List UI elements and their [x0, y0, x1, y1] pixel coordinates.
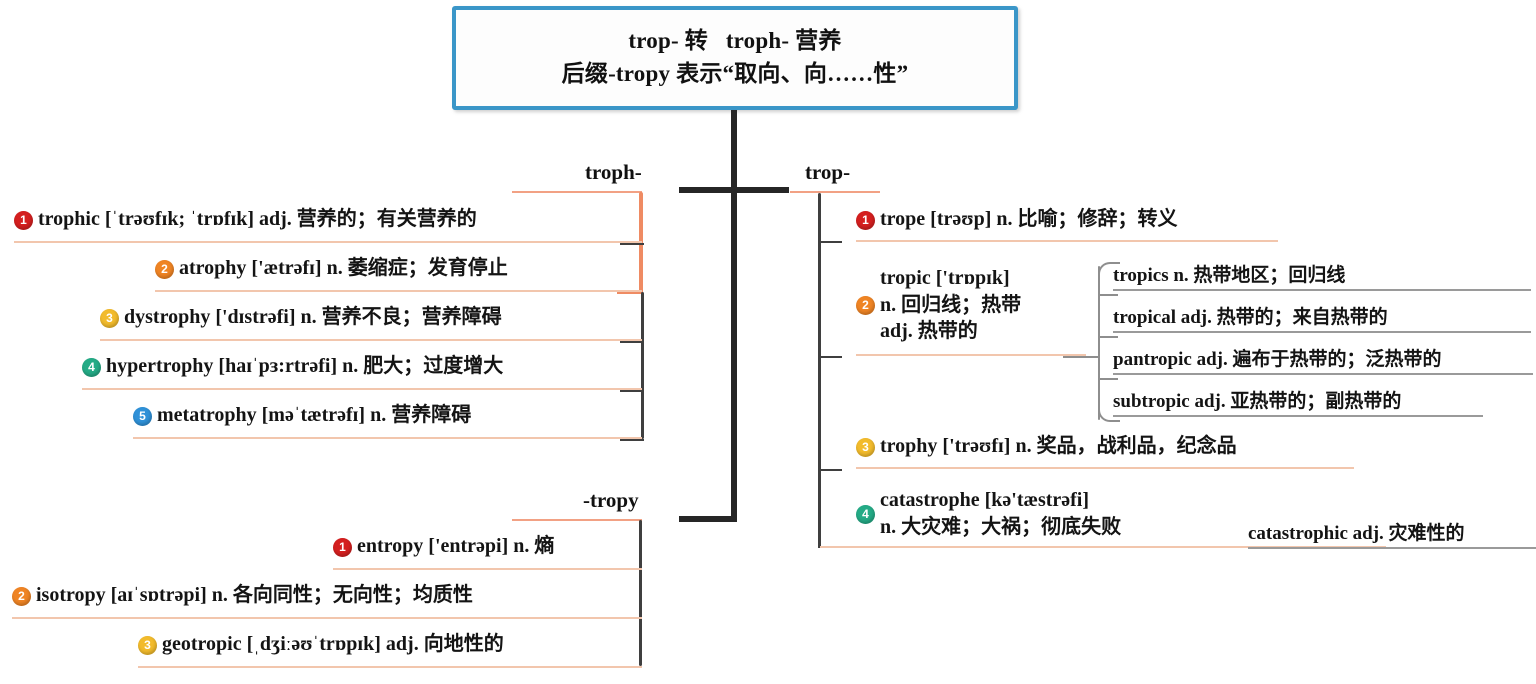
entry-trop-1[interactable]: 1 trope [trəʊp] n. 比喻；修辞；转义: [856, 206, 1278, 242]
subbracket-tropic-stem: [1063, 356, 1099, 358]
entry-text: metatrophy [məˈtætrəfɪ] n. 营养障碍: [157, 402, 471, 429]
entry-text: trophic [ˈtrəʊfɪk; ˈtrɒfɪk] adj. 营养的；有关营…: [38, 206, 477, 233]
mindmap-canvas: trop- 转 troph- 营养 后缀-tropy 表示“取向、向……性” t…: [0, 0, 1536, 684]
bullet-number: 4: [82, 358, 101, 377]
bracket-trop-tick-3: [818, 469, 842, 471]
bracket-trop-tick-2: [818, 356, 842, 358]
entry-trop-2[interactable]: 2 tropic ['trɒpɪk] n. 回归线；热带 adj. 热带的: [856, 256, 1086, 356]
subitem-tropical[interactable]: tropical adj. 热带的；来自热带的: [1113, 302, 1531, 333]
entry-text: trope [trəʊp] n. 比喻；修辞；转义: [880, 206, 1178, 233]
bullet-number: 2: [856, 296, 875, 315]
entry-troph-4[interactable]: 4 hypertrophy [haɪˈpɜ:rtrəfi] n. 肥大；过度增大: [82, 353, 642, 390]
bullet-number: 2: [155, 260, 174, 279]
subitem-catastrophic[interactable]: catastrophic adj. 灾难性的: [1248, 518, 1536, 549]
bullet-number: 1: [14, 211, 33, 230]
bracket-troph-tick-5: [620, 439, 644, 441]
entry-text-line-1: tropic ['trɒpɪk]: [880, 265, 1021, 292]
bullet-number: 3: [138, 636, 157, 655]
subbracket-tropic-tick-2: [1098, 294, 1118, 296]
bullet-number: 4: [856, 505, 875, 524]
branch-label-troph[interactable]: troph-: [585, 160, 642, 185]
bullet-number: 1: [856, 211, 875, 230]
bullet-number: 2: [12, 587, 31, 606]
branch-rule-trop: [790, 191, 880, 193]
bullet-number: 3: [856, 438, 875, 457]
entry-troph-2[interactable]: 2 atrophy ['ætrəfɪ] n. 萎缩症；发育停止: [155, 255, 642, 292]
subbracket-tropic-line: [1098, 266, 1100, 420]
bracket-troph-tick-1: [620, 243, 644, 245]
branch-rule-troph: [512, 191, 642, 193]
trunk-horizontal-tropy: [679, 516, 737, 522]
entry-tropy-2[interactable]: 2 isotropy [aɪˈsɒtrəpi] n. 各向同性；无向性；均质性: [12, 582, 642, 619]
entry-troph-5[interactable]: 5 metatrophy [məˈtætrəfɪ] n. 营养障碍: [133, 402, 642, 439]
subbracket-tropic-tick-4: [1098, 378, 1118, 380]
entry-text: atrophy ['ætrəfɪ] n. 萎缩症；发育停止: [179, 255, 508, 282]
bullet-number: 1: [333, 538, 352, 557]
entry-text-line-2: n. 大灾难；大祸；彻底失败: [880, 514, 1121, 541]
entry-text-line-1: catastrophe [kə'tæstrəfi]: [880, 487, 1121, 514]
branch-label-tropy[interactable]: -tropy: [583, 488, 639, 513]
root-title-box: trop- 转 troph- 营养 后缀-tropy 表示“取向、向……性”: [452, 6, 1018, 110]
entry-text-block: catastrophe [kə'tæstrəfi] n. 大灾难；大祸；彻底失败: [880, 487, 1121, 540]
bracket-trop-tick-1: [818, 241, 842, 243]
branch-rule-tropy: [512, 519, 642, 521]
entry-text-block: tropic ['trɒpɪk] n. 回归线；热带 adj. 热带的: [880, 265, 1021, 345]
entry-troph-1[interactable]: 1 trophic [ˈtrəʊfɪk; ˈtrɒfɪk] adj. 营养的；有…: [14, 206, 642, 243]
trunk-vertical-main: [731, 110, 737, 190]
bracket-troph-tick-4: [620, 390, 644, 392]
entry-text: entropy ['entrəpi] n. 熵: [357, 533, 554, 560]
subbracket-tropic-tick-3: [1098, 336, 1118, 338]
subitem-tropics[interactable]: tropics n. 热带地区；回归线: [1113, 260, 1531, 291]
entry-text-line-3: adj. 热带的: [880, 318, 1021, 345]
entry-text: hypertrophy [haɪˈpɜ:rtrəfi] n. 肥大；过度增大: [106, 353, 503, 380]
trunk-vertical-lower: [731, 193, 737, 522]
entry-text: trophy ['trəʊfɪ] n. 奖品，战利品，纪念品: [880, 433, 1237, 460]
entry-tropy-3[interactable]: 3 geotropic [ˌdʒiːəʊˈtrɒpɪk] adj. 向地性的: [138, 631, 642, 668]
entry-troph-3[interactable]: 3 dystrophy ['dɪstrəfi] n. 营养不良；营养障碍: [100, 304, 642, 341]
bullet-number: 5: [133, 407, 152, 426]
bracket-troph-tick-3: [620, 341, 644, 343]
subitem-subtropic[interactable]: subtropic adj. 亚热带的；副热带的: [1113, 386, 1483, 417]
entry-text: isotropy [aɪˈsɒtrəpi] n. 各向同性；无向性；均质性: [36, 582, 473, 609]
bullet-number: 3: [100, 309, 119, 328]
bracket-trop-line: [818, 193, 821, 548]
entry-text-line-2: n. 回归线；热带: [880, 292, 1021, 319]
subitem-pantropic[interactable]: pantropic adj. 遍布于热带的；泛热带的: [1113, 344, 1533, 375]
entry-tropy-1[interactable]: 1 entropy ['entrəpi] n. 熵: [333, 533, 642, 570]
entry-text: geotropic [ˌdʒiːəʊˈtrɒpɪk] adj. 向地性的: [162, 631, 504, 658]
root-title-line-1: trop- 转 troph- 营养: [628, 25, 841, 58]
branch-label-trop[interactable]: trop-: [805, 160, 850, 185]
entry-trop-4[interactable]: 4 catastrophe [kə'tæstrəfi] n. 大灾难；大祸；彻底…: [856, 482, 1256, 546]
entry-text: dystrophy ['dɪstrəfi] n. 营养不良；营养障碍: [124, 304, 502, 331]
entry-trop-3[interactable]: 3 trophy ['trəʊfɪ] n. 奖品，战利品，纪念品: [856, 433, 1354, 469]
root-title-line-2: 后缀-tropy 表示“取向、向……性”: [562, 58, 909, 91]
